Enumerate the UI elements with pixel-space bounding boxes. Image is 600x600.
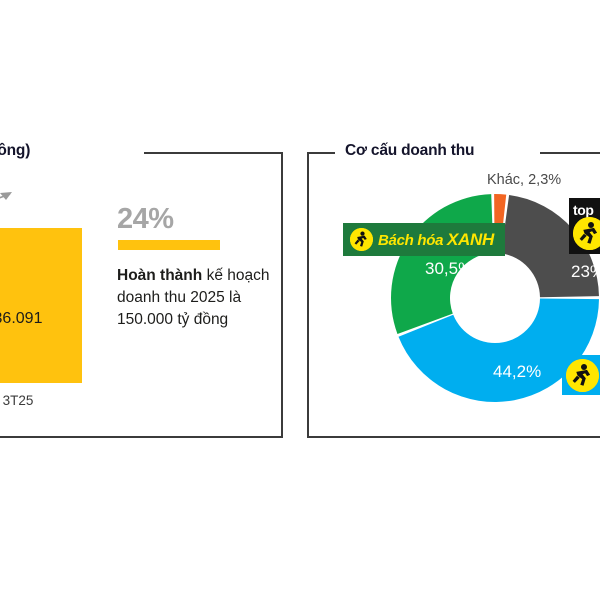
callout-body: Hoàn thành kế hoạch doanh thu 2025 là 15… xyxy=(117,265,282,331)
bar-axis-label: 3T25 xyxy=(0,393,76,408)
bhx-wordmark: Bách hóa XANH xyxy=(378,230,494,250)
right-panel-top-rule-left xyxy=(307,152,335,154)
right-panel-top-rule-right xyxy=(540,152,600,154)
bhx-word-2: XANH xyxy=(447,230,494,249)
bar-3t25 xyxy=(0,228,82,383)
bhx-word-1: Bách hóa xyxy=(378,232,447,249)
badge-the-gioi-di-dong xyxy=(562,355,600,395)
topzone-logo-icon xyxy=(573,217,600,250)
left-panel-top-rule xyxy=(144,152,283,154)
bar-value-label: 36.091 xyxy=(0,310,76,328)
badge-topzone: top xyxy=(569,198,600,254)
callout-headline: Hoàn thành xyxy=(117,267,202,284)
donut-slice-2 xyxy=(391,194,493,334)
tgdd-logo-icon xyxy=(566,359,599,392)
right-panel-title: Cơ cấu doanh thu xyxy=(345,142,474,160)
topzone-wordmark: top xyxy=(573,203,594,217)
callout-percent: 24% xyxy=(117,203,174,236)
callout-underline xyxy=(118,240,220,250)
bhx-logo-icon xyxy=(350,228,373,251)
left-panel-title: n (Tỷ đồng) xyxy=(0,142,30,160)
badge-bach-hoa-xanh: Bách hóa XANH xyxy=(343,223,505,256)
infographic-canvas: n (Tỷ đồng) 36.091 3T25 24% Hoàn thành k… xyxy=(0,0,600,600)
donut-label-khac: Khác, 2,3% xyxy=(487,172,561,188)
trend-arrow-icon xyxy=(0,188,22,214)
